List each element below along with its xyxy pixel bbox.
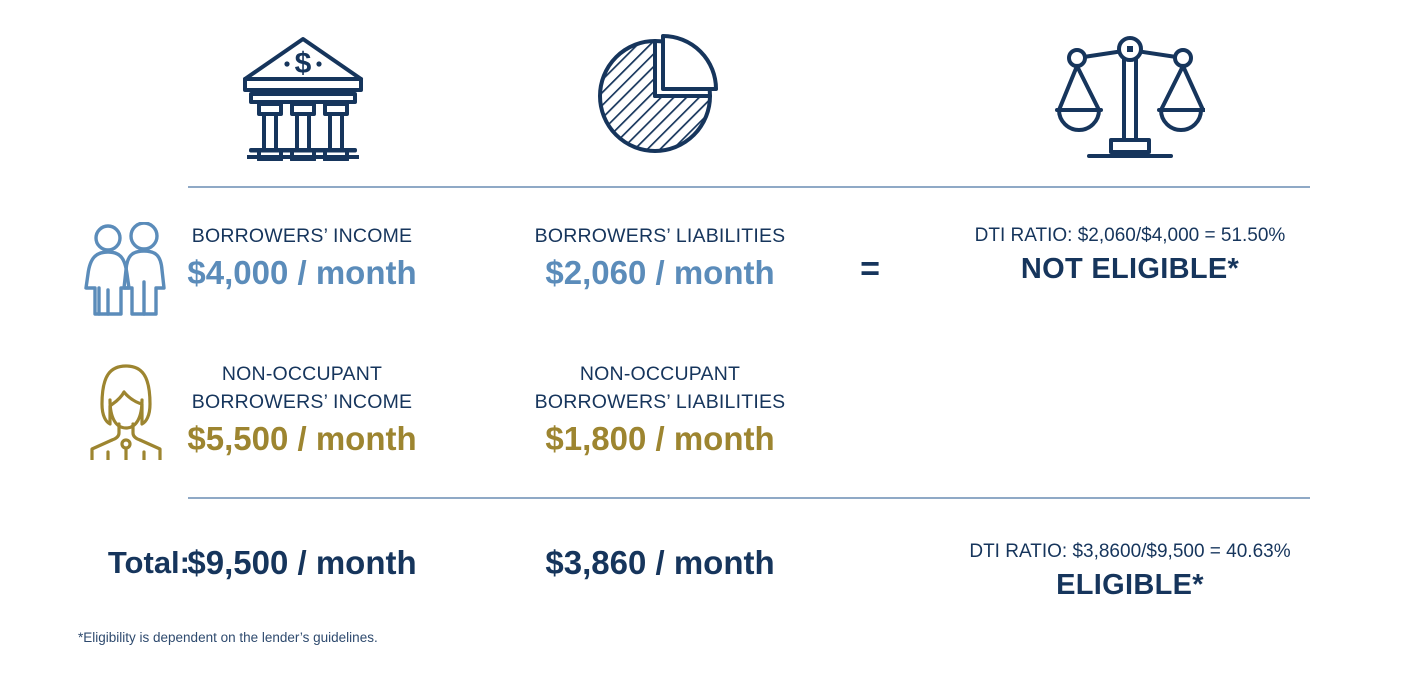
- balance-scale-icon: [1015, 26, 1245, 166]
- non-occupant-row: NON-OCCUPANT BORROWERS’ INCOME $5,500 / …: [0, 360, 1428, 475]
- non-occupant-liabilities-cell: NON-OCCUPANT BORROWERS’ LIABILITIES $1,8…: [490, 360, 830, 462]
- total-eligibility-status: ELIGIBLE*: [945, 565, 1315, 605]
- primary-dti-ratio: DTI RATIO: $2,060/$4,000 = 51.50%: [945, 222, 1315, 249]
- non-occupant-income-label-line1: NON-OCCUPANT: [132, 360, 472, 388]
- total-dti-ratio: DTI RATIO: $3,8600/$9,500 = 40.63%: [945, 538, 1315, 565]
- divider-bottom: [188, 497, 1310, 499]
- equals-glyph: =: [835, 246, 905, 292]
- total-dti-cell: DTI RATIO: $3,8600/$9,500 = 40.63% ELIGI…: [945, 538, 1315, 605]
- primary-borrowers-row: BORROWERS’ INCOME $4,000 / month BORROWE…: [0, 222, 1428, 332]
- total-income-amount: $9,500 / month: [132, 540, 472, 586]
- total-row: Total: $9,500 / month $3,860 / month DTI…: [0, 540, 1428, 620]
- eligibility-footnote: *Eligibility is dependent on the lender’…: [78, 630, 378, 645]
- equals-sign: =: [835, 246, 905, 292]
- non-occupant-income-amount: $5,500 / month: [132, 416, 472, 462]
- non-occupant-liabilities-amount: $1,800 / month: [490, 416, 830, 462]
- borrowers-liabilities-amount: $2,060 / month: [490, 250, 830, 296]
- borrowers-liabilities-label: BORROWERS’ LIABILITIES: [490, 222, 830, 250]
- dti-infographic: $: [0, 0, 1428, 675]
- total-liabilities-amount: $3,860 / month: [490, 540, 830, 586]
- primary-dti-cell: DTI RATIO: $2,060/$4,000 = 51.50% NOT EL…: [945, 222, 1315, 289]
- non-occupant-liabilities-label-line2: BORROWERS’ LIABILITIES: [490, 388, 830, 416]
- non-occupant-liabilities-label-line1: NON-OCCUPANT: [490, 360, 830, 388]
- borrowers-income-label: BORROWERS’ INCOME: [132, 222, 472, 250]
- non-occupant-income-cell: NON-OCCUPANT BORROWERS’ INCOME $5,500 / …: [132, 360, 472, 462]
- borrowers-income-amount: $4,000 / month: [132, 250, 472, 296]
- bank-building-icon: $: [188, 26, 418, 166]
- icon-header-row: $: [0, 26, 1428, 166]
- svg-text:$: $: [295, 47, 312, 80]
- total-income-cell: $9,500 / month: [132, 540, 472, 586]
- divider-top: [188, 186, 1310, 188]
- total-liabilities-cell: $3,860 / month: [490, 540, 830, 586]
- borrowers-liabilities-cell: BORROWERS’ LIABILITIES $2,060 / month: [490, 222, 830, 296]
- primary-eligibility-status: NOT ELIGIBLE*: [945, 249, 1315, 289]
- pie-chart-icon: [545, 26, 775, 166]
- borrowers-income-cell: BORROWERS’ INCOME $4,000 / month: [132, 222, 472, 296]
- non-occupant-income-label-line2: BORROWERS’ INCOME: [132, 388, 472, 416]
